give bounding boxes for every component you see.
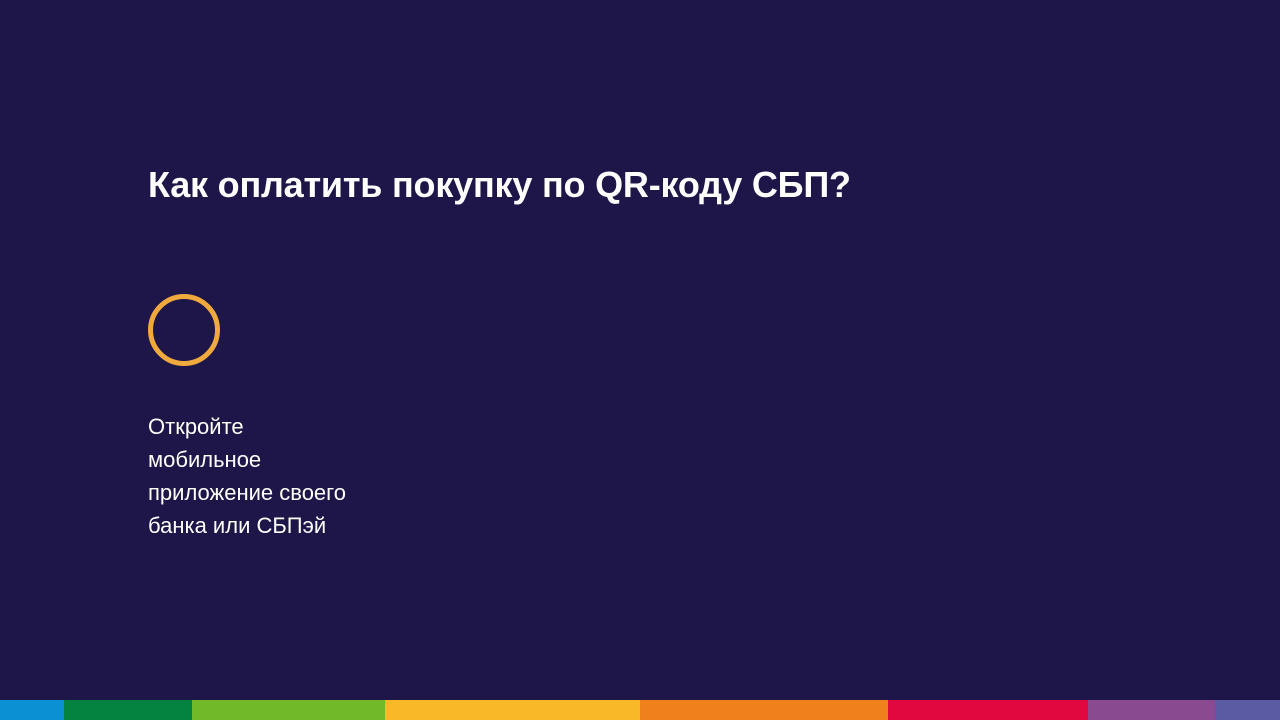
- accent-bar-segment-light-green: [192, 700, 385, 720]
- accent-bar-segment-dark-green: [64, 700, 192, 720]
- step-description: Откройте мобильное приложение своего бан…: [148, 410, 398, 542]
- circle-outline-icon: [148, 294, 220, 366]
- accent-bar-segment-orange: [640, 700, 888, 720]
- page-title: Как оплатить покупку по QR-коду СБП?: [148, 163, 851, 207]
- step-item: Откройте мобильное приложение своего бан…: [148, 294, 448, 542]
- presentation-slide: Как оплатить покупку по QR-коду СБП? Отк…: [0, 0, 1280, 720]
- accent-bar-segment-indigo: [1215, 700, 1280, 720]
- accent-bar-segment-blue: [0, 700, 64, 720]
- accent-bar-segment-crimson: [888, 700, 1088, 720]
- accent-color-bar: [0, 700, 1280, 720]
- accent-bar-segment-yellow: [385, 700, 640, 720]
- accent-bar-segment-purple: [1088, 700, 1215, 720]
